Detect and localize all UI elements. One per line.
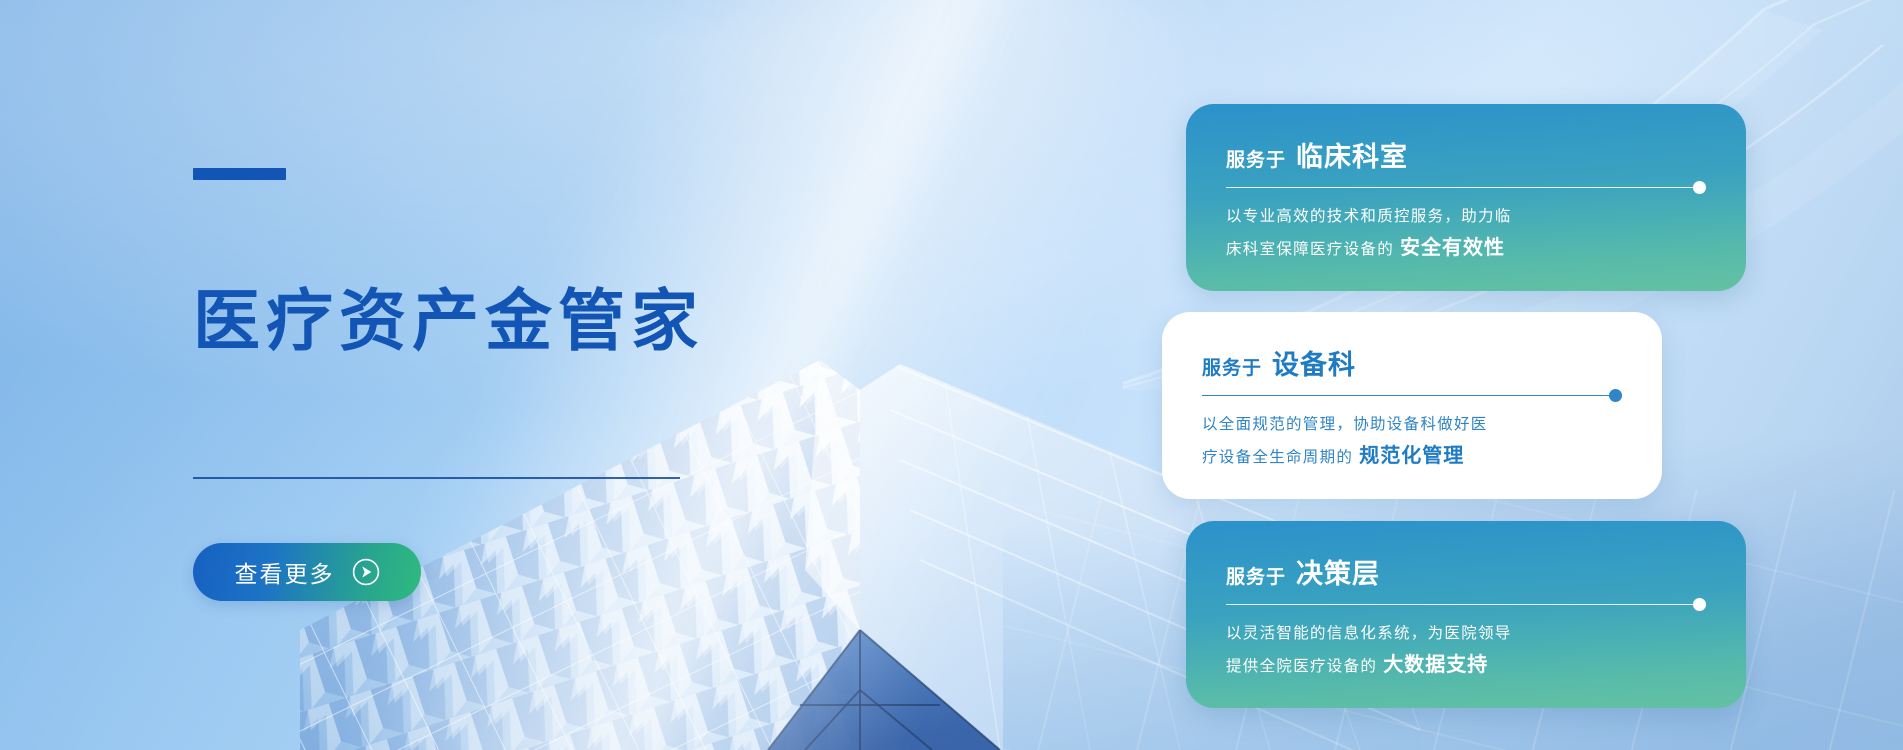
hero-left-column: 医疗资产金管家 查看更多 — [193, 0, 933, 750]
card-emphasis: 规范化管理 — [1353, 445, 1464, 467]
service-card-equipment-department[interactable]: 服务于 设备科 以全面规范的管理，协助设备科做好医 疗设备全生命周期的规范化管理 — [1162, 312, 1662, 499]
card-body-line-2-text: 提供全院医疗设备的 — [1226, 658, 1377, 675]
card-subject: 设备科 — [1272, 343, 1356, 382]
card-body-line-1: 以专业高效的技术和质控服务，助力临 — [1226, 204, 1706, 231]
horizontal-divider — [193, 477, 680, 479]
card-body: 以专业高效的技术和质控服务，助力临 床科室保障医疗设备的安全有效性 — [1226, 204, 1706, 265]
card-body: 以全面规范的管理，协助设备科做好医 疗设备全生命周期的规范化管理 — [1202, 412, 1622, 473]
card-body: 以灵活智能的信息化系统，为医院领导 提供全院医疗设备的大数据支持 — [1226, 621, 1706, 682]
card-prefix: 服务于 — [1202, 353, 1262, 380]
card-rule-with-dot — [1202, 395, 1622, 396]
card-body-line-1: 以灵活智能的信息化系统，为医院领导 — [1226, 621, 1706, 648]
card-rule-with-dot — [1226, 604, 1706, 605]
card-body-line-1: 以全面规范的管理，协助设备科做好医 — [1202, 412, 1622, 439]
card-heading: 服务于 设备科 — [1202, 343, 1622, 382]
circled-arrow-right-icon — [352, 558, 380, 586]
card-rule-dot-icon — [1693, 181, 1706, 194]
card-subject: 决策层 — [1296, 552, 1380, 591]
card-body-line-2: 提供全院医疗设备的大数据支持 — [1226, 648, 1706, 682]
card-emphasis: 安全有效性 — [1394, 237, 1505, 259]
card-rule-dot-icon — [1693, 598, 1706, 611]
card-rule-line — [1202, 395, 1613, 396]
card-body-line-2: 床科室保障医疗设备的安全有效性 — [1226, 231, 1706, 265]
card-body-line-2: 疗设备全生命周期的规范化管理 — [1202, 439, 1622, 473]
hero-banner: 医疗资产金管家 查看更多 服务于 临床科室 以专业高效的技术和质控服务，助力临 — [0, 0, 1903, 750]
card-rule-line — [1226, 604, 1697, 605]
accent-bar — [193, 168, 286, 180]
service-card-decision-makers[interactable]: 服务于 决策层 以灵活智能的信息化系统，为医院领导 提供全院医疗设备的大数据支持 — [1186, 521, 1746, 708]
view-more-button[interactable]: 查看更多 — [193, 543, 421, 601]
card-body-line-2-text: 床科室保障医疗设备的 — [1226, 241, 1394, 258]
card-heading: 服务于 临床科室 — [1226, 135, 1706, 174]
card-rule-line — [1226, 187, 1697, 188]
card-emphasis: 大数据支持 — [1377, 654, 1488, 676]
service-card-stack: 服务于 临床科室 以专业高效的技术和质控服务，助力临 床科室保障医疗设备的安全有… — [1186, 104, 1746, 708]
card-rule-dot-icon — [1609, 389, 1622, 402]
card-prefix: 服务于 — [1226, 562, 1286, 589]
card-subject: 临床科室 — [1296, 135, 1408, 174]
view-more-label: 查看更多 — [235, 555, 335, 589]
card-body-line-2-text: 疗设备全生命周期的 — [1202, 449, 1353, 466]
card-rule-with-dot — [1226, 187, 1706, 188]
card-heading: 服务于 决策层 — [1226, 552, 1706, 591]
card-prefix: 服务于 — [1226, 145, 1286, 172]
page-title: 医疗资产金管家 — [193, 288, 704, 355]
service-card-clinical-department[interactable]: 服务于 临床科室 以专业高效的技术和质控服务，助力临 床科室保障医疗设备的安全有… — [1186, 104, 1746, 291]
